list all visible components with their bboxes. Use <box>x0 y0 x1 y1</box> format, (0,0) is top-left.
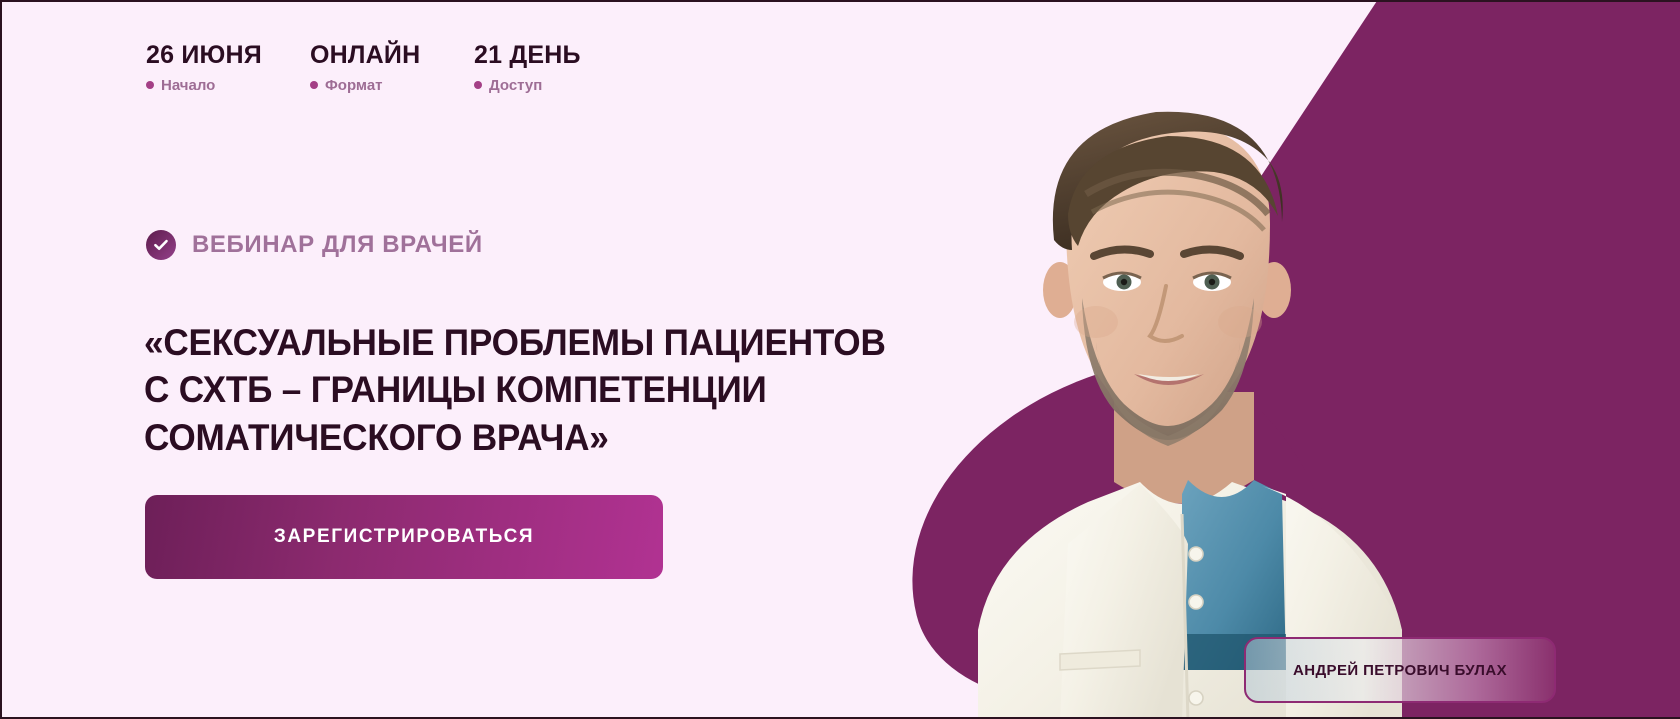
headline-line-3: СОМАТИЧЕСКОГО ВРАЧА» <box>144 414 980 461</box>
meta-label-start: Начало <box>161 77 215 94</box>
webinar-hero-banner: 26 ИЮНЯ Начало ОНЛАЙН Формат 21 ДЕНЬ Дос… <box>0 0 1680 719</box>
bullet-dot-icon <box>474 81 482 89</box>
event-meta-strip: 26 ИЮНЯ Начало ОНЛАЙН Формат 21 ДЕНЬ Дос… <box>146 42 638 94</box>
meta-item-start: 26 ИЮНЯ Начало <box>146 42 310 94</box>
meta-label-row-format: Формат <box>310 77 474 94</box>
meta-value-format: ОНЛАЙН <box>310 42 474 70</box>
bullet-dot-icon <box>310 81 318 89</box>
bullet-dot-icon <box>146 81 154 89</box>
meta-label-row-access: Доступ <box>474 77 638 94</box>
headline-line-2: С СХТБ – ГРАНИЦЫ КОМПЕТЕНЦИИ <box>144 366 980 413</box>
meta-item-format: ОНЛАЙН Формат <box>310 42 474 94</box>
meta-item-access: 21 ДЕНЬ Доступ <box>474 42 638 94</box>
headline-line-1: «СЕКСУАЛЬНЫЕ ПРОБЛЕМЫ ПАЦИЕНТОВ <box>144 319 980 366</box>
check-circle-icon <box>146 230 176 260</box>
meta-label-row-start: Начало <box>146 77 310 94</box>
page-title: «СЕКСУАЛЬНЫЕ ПРОБЛЕМЫ ПАЦИЕНТОВ С СХТБ –… <box>144 319 980 461</box>
meta-value-access: 21 ДЕНЬ <box>474 42 638 70</box>
eyebrow-label: ВЕБИНАР ДЛЯ ВРАЧЕЙ <box>192 231 483 259</box>
meta-label-access: Доступ <box>489 77 542 94</box>
speaker-name-plate: АНДРЕЙ ПЕТРОВИЧ БУЛАХ <box>1244 637 1556 703</box>
meta-label-format: Формат <box>325 77 383 94</box>
meta-value-start: 26 ИЮНЯ <box>146 42 310 70</box>
eyebrow-row: ВЕБИНАР ДЛЯ ВРАЧЕЙ <box>146 230 483 260</box>
register-button[interactable]: ЗАРЕГИСТРИРОВАТЬСЯ <box>145 495 663 579</box>
speaker-name-label: АНДРЕЙ ПЕТРОВИЧ БУЛАХ <box>1293 662 1507 679</box>
